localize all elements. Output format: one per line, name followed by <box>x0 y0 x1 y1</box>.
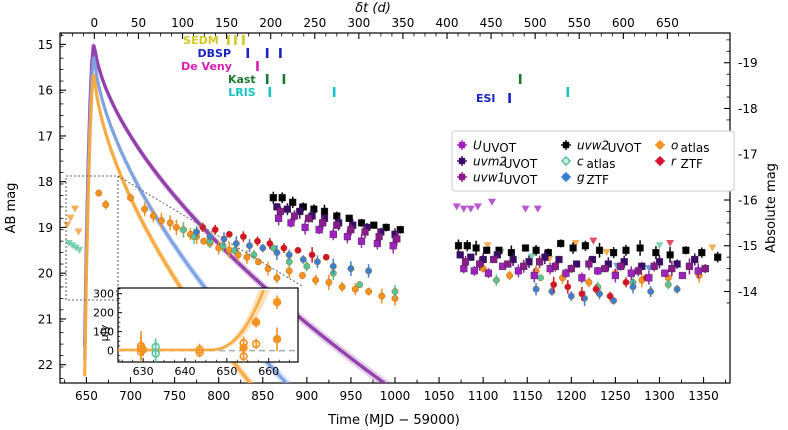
svg-text:200: 200 <box>259 16 282 30</box>
data-point <box>173 224 179 230</box>
data-point <box>493 277 499 283</box>
data-point <box>651 263 658 270</box>
svg-text:0: 0 <box>107 345 114 358</box>
data-point <box>284 206 291 213</box>
data-point <box>665 281 671 287</box>
data-point <box>270 194 277 201</box>
data-point <box>201 238 207 244</box>
legend-label-sub: UVOT <box>504 157 538 171</box>
data-point <box>207 233 213 239</box>
data-point <box>648 288 654 294</box>
svg-text:700: 700 <box>119 389 142 403</box>
data-point <box>295 247 301 253</box>
svg-text:660: 660 <box>258 365 279 378</box>
data-point <box>291 213 298 220</box>
svg-text:1000: 1000 <box>380 389 411 403</box>
data-point <box>358 238 365 245</box>
legend-label-sub: atlas <box>681 141 710 155</box>
legend-marker <box>459 142 465 148</box>
svg-text:550: 550 <box>568 16 591 30</box>
data-point <box>586 261 593 268</box>
data-point <box>570 245 577 252</box>
data-point <box>457 252 464 259</box>
data-point <box>370 222 377 229</box>
svg-text:150: 150 <box>215 16 238 30</box>
data-point <box>702 265 709 272</box>
legend-marker <box>563 158 569 164</box>
data-point <box>127 195 133 201</box>
data-point <box>565 284 571 290</box>
data-point <box>556 256 563 263</box>
svg-text:1350: 1350 <box>688 389 719 403</box>
svg-text:300: 300 <box>93 288 114 301</box>
data-point <box>339 284 345 290</box>
data-point <box>579 291 585 297</box>
data-point <box>610 249 617 256</box>
svg-text:600: 600 <box>612 16 635 30</box>
legend-label: U <box>473 139 482 153</box>
data-point <box>586 279 592 285</box>
svg-text:22: 22 <box>38 358 53 372</box>
data-point <box>568 265 575 272</box>
spec-instrument-label: LRIS <box>228 86 256 99</box>
data-point <box>594 268 601 275</box>
svg-text:850: 850 <box>251 389 274 403</box>
data-point <box>141 206 147 212</box>
svg-text:900: 900 <box>295 389 318 403</box>
data-point <box>180 227 186 233</box>
legend-marker <box>563 174 569 180</box>
data-point <box>568 293 574 299</box>
svg-text:100: 100 <box>171 16 194 30</box>
x-top-axis-label: δt (d) <box>355 1 391 16</box>
svg-text:630: 630 <box>133 365 154 378</box>
data-point <box>286 268 292 274</box>
data-point <box>274 275 280 281</box>
data-point <box>483 247 490 254</box>
data-point <box>623 247 630 254</box>
spec-instrument-label: DBSP <box>198 47 232 60</box>
legend-label-sub: UVOT <box>504 173 538 187</box>
data-point <box>326 279 332 285</box>
data-point <box>485 270 492 277</box>
data-point <box>522 245 529 252</box>
data-point <box>300 256 306 262</box>
legend-marker <box>563 142 569 148</box>
svg-text:-15: -15 <box>738 239 758 253</box>
data-point <box>323 254 329 260</box>
svg-text:650: 650 <box>216 365 237 378</box>
data-point <box>321 208 328 215</box>
data-point <box>617 263 624 270</box>
svg-text:-16: -16 <box>738 193 758 207</box>
data-point <box>274 249 280 255</box>
legend-marker <box>657 142 663 148</box>
data-point <box>260 245 266 251</box>
svg-text:1150: 1150 <box>512 389 543 403</box>
data-point <box>679 272 686 279</box>
legend-marker <box>459 174 465 180</box>
data-point <box>683 247 690 254</box>
svg-text:1050: 1050 <box>424 389 455 403</box>
data-point <box>464 242 471 249</box>
figure-canvas: 6507007508008509009501000105011001150120… <box>0 0 788 430</box>
data-point <box>552 263 559 270</box>
data-point <box>667 252 674 259</box>
spec-instrument-label: Kast <box>228 73 256 86</box>
svg-text:16: 16 <box>38 84 53 98</box>
data-point <box>533 247 540 254</box>
svg-text:20: 20 <box>38 267 53 281</box>
data-point <box>362 229 369 236</box>
data-point <box>251 252 257 258</box>
data-point <box>167 220 173 226</box>
legend-label-sub: UVOT <box>608 141 642 155</box>
data-point <box>557 240 564 247</box>
y-right-axis-label: Absolute mag <box>764 163 779 253</box>
data-point <box>686 263 693 270</box>
data-point <box>490 256 497 263</box>
legend-label: uvm2 <box>473 155 507 169</box>
data-point <box>279 194 286 201</box>
data-point <box>579 274 586 281</box>
data-point <box>365 268 371 274</box>
data-point <box>305 215 312 222</box>
data-point <box>240 233 246 239</box>
legend-label: o <box>671 139 678 153</box>
data-point <box>304 263 310 269</box>
data-point <box>691 256 698 263</box>
data-point <box>551 281 557 287</box>
legend-label: uvw2 <box>577 139 609 153</box>
data-point <box>254 238 260 244</box>
svg-text:21: 21 <box>38 312 53 326</box>
data-point <box>365 288 371 294</box>
data-point <box>533 286 539 292</box>
data-point <box>637 245 644 252</box>
data-point <box>220 243 226 249</box>
data-point <box>536 258 543 265</box>
svg-text:-17: -17 <box>738 148 758 162</box>
svg-text:19: 19 <box>38 221 53 235</box>
svg-text:1300: 1300 <box>644 389 675 403</box>
legend-label-sub: atlas <box>587 157 616 171</box>
spec-instrument-label: SEDM <box>183 34 219 47</box>
data-point <box>314 259 320 265</box>
y-axis-label: AB mag <box>4 183 19 234</box>
data-point <box>333 222 340 229</box>
data-point <box>455 242 462 249</box>
data-point <box>286 252 292 258</box>
data-point <box>246 243 252 249</box>
svg-text:17: 17 <box>38 129 53 143</box>
svg-text:500: 500 <box>524 16 547 30</box>
svg-text:1250: 1250 <box>600 389 631 403</box>
data-point <box>506 272 512 278</box>
svg-text:400: 400 <box>436 16 459 30</box>
data-point <box>212 227 218 233</box>
data-point <box>628 270 635 277</box>
data-point <box>473 245 480 252</box>
svg-text:15: 15 <box>38 38 53 52</box>
svg-text:300: 300 <box>347 16 370 30</box>
svg-text:50: 50 <box>131 16 146 30</box>
svg-text:200: 200 <box>93 307 114 320</box>
svg-text:800: 800 <box>207 389 230 403</box>
data-point <box>313 277 319 283</box>
legend-marker <box>459 158 465 164</box>
data-point <box>150 213 156 219</box>
inset-data-point <box>274 299 281 306</box>
x-axis-label: Time (MJD − 59000) <box>327 413 460 428</box>
data-point <box>392 288 398 294</box>
data-point <box>319 220 326 227</box>
data-point <box>226 231 232 237</box>
svg-text:650: 650 <box>75 389 98 403</box>
lightcurve-figure: 6507007508008509009501000105011001150120… <box>0 0 788 430</box>
data-point <box>193 229 199 235</box>
svg-text:1100: 1100 <box>468 389 499 403</box>
svg-text:950: 950 <box>339 389 362 403</box>
data-point <box>520 263 527 270</box>
svg-text:1200: 1200 <box>556 389 587 403</box>
data-point <box>695 268 702 275</box>
data-point <box>504 261 511 268</box>
data-point <box>346 215 353 222</box>
data-point <box>344 233 351 240</box>
svg-text:-18: -18 <box>738 102 758 116</box>
data-point <box>714 254 721 261</box>
data-point <box>612 272 619 279</box>
legend-marker <box>657 158 663 164</box>
spec-instrument-label: De Veny <box>181 60 232 73</box>
data-point <box>596 247 603 254</box>
legend-label: c <box>577 155 584 169</box>
data-point <box>357 281 363 287</box>
svg-text:250: 250 <box>303 16 326 30</box>
data-point <box>390 242 397 249</box>
data-point <box>330 231 337 238</box>
legend[interactable]: UUVOTuvm2UVOTuvw1UVOTuvw2UVOTcatlasgZTFo… <box>452 131 734 191</box>
inset-data-point <box>274 336 281 343</box>
data-point <box>668 265 675 272</box>
data-point <box>531 272 538 279</box>
svg-text:-14: -14 <box>738 285 758 299</box>
data-point <box>646 274 653 281</box>
data-point <box>158 217 164 223</box>
data-point <box>221 236 227 242</box>
data-point <box>674 286 680 292</box>
data-point <box>299 272 305 278</box>
data-point <box>537 275 543 281</box>
data-point <box>277 208 284 215</box>
data-point <box>316 226 323 233</box>
svg-text:350: 350 <box>391 16 414 30</box>
legend-label: uvw1 <box>473 171 505 185</box>
data-point <box>330 263 336 269</box>
data-point <box>630 284 636 290</box>
legend-label-sub: ZTF <box>587 173 610 187</box>
legend-label-sub: UVOT <box>483 141 517 155</box>
data-point <box>476 261 483 268</box>
svg-text:450: 450 <box>480 16 503 30</box>
data-point <box>348 265 354 271</box>
data-point <box>607 293 613 299</box>
data-point <box>267 240 273 246</box>
svg-text:18: 18 <box>38 175 53 189</box>
data-point <box>393 236 400 243</box>
legend-label-sub: ZTF <box>681 157 704 171</box>
inset-data-point <box>240 344 247 351</box>
data-point <box>348 226 355 233</box>
data-point <box>233 240 239 246</box>
data-point <box>623 279 629 285</box>
data-point <box>593 286 599 292</box>
data-point <box>471 268 478 275</box>
svg-text:750: 750 <box>163 389 186 403</box>
data-point <box>265 265 271 271</box>
data-point <box>661 270 668 277</box>
svg-text:640: 640 <box>174 365 195 378</box>
data-point <box>698 249 705 256</box>
data-point <box>582 242 589 249</box>
svg-text:650: 650 <box>656 16 679 30</box>
legend-label: g <box>577 171 585 185</box>
data-point <box>103 201 109 207</box>
data-point <box>635 268 642 275</box>
data-point <box>309 252 315 258</box>
inset-y-axis-label: μJy <box>98 324 111 341</box>
data-point <box>288 220 295 227</box>
data-point <box>653 249 660 256</box>
data-point <box>289 199 296 206</box>
data-point <box>255 259 261 265</box>
data-point <box>96 190 102 196</box>
data-point <box>601 265 608 272</box>
spec-instrument-label: ESI <box>476 92 496 105</box>
data-point <box>302 224 309 231</box>
data-point <box>376 233 383 240</box>
svg-text:0: 0 <box>91 16 99 30</box>
svg-text:-19: -19 <box>738 56 758 70</box>
data-point <box>462 258 469 265</box>
data-point <box>379 293 385 299</box>
inset-data-point <box>253 319 260 326</box>
data-point <box>281 245 287 251</box>
